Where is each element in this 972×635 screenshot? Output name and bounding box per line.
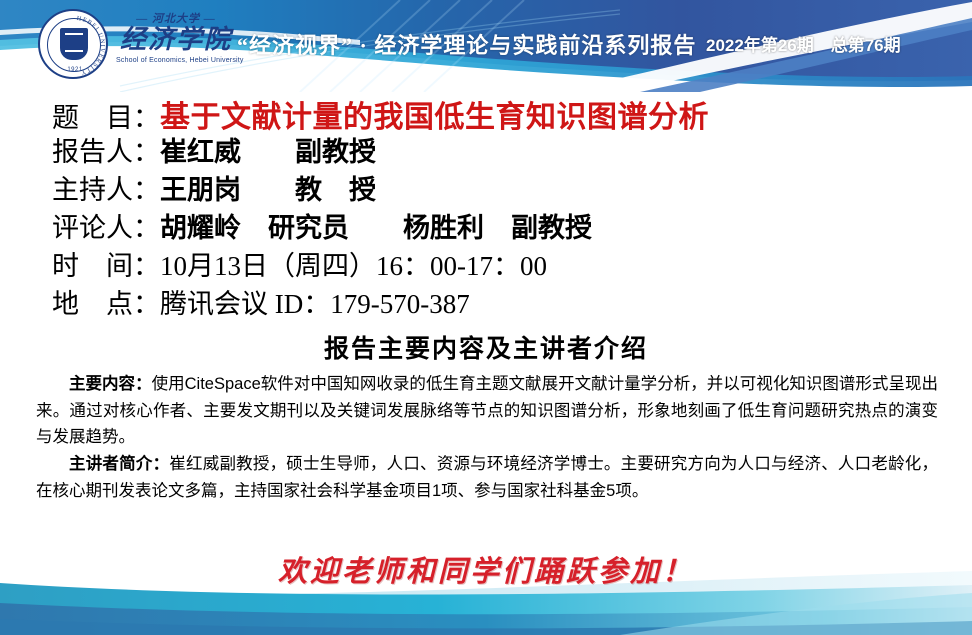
university-seal-icon: HEBEI UNIVERSITY 1921	[38, 9, 108, 79]
info-row-label: 时 间：	[52, 244, 160, 283]
paragraph-text: 崔红威副教授，硕士生导师，人口、资源与环境经济学博士。主要研究方向为人口与经济、…	[36, 455, 938, 500]
header-banner: HEBEI UNIVERSITY 1921 — 河北大学 — 经济学院 Scho…	[0, 0, 972, 92]
logo-english-name: School of Economics, Hebei University	[116, 57, 236, 64]
info-row-label: 地 点：	[52, 282, 160, 321]
info-row-label: 主持人：	[52, 168, 160, 207]
logo-wordmark: — 河北大学 — 经济学院 School of Economics, Hebei…	[116, 10, 236, 64]
info-row-label: 报告人：	[52, 130, 160, 169]
info-row: 主持人：王朋岗 教 授	[0, 168, 972, 206]
info-row-label: 评论人：	[52, 206, 160, 245]
info-row: 时 间：10月13日（周四）16：00-17：00	[0, 244, 972, 282]
section-heading: 报告主要内容及主讲者介绍	[0, 329, 972, 365]
issue-number: 2022年第26期 总第76期	[706, 31, 901, 56]
body-paragraphs: 主要内容：使用CiteSpace软件对中国知网收录的低生育主题文献展开文献计量学…	[0, 371, 972, 505]
event-info-list: 题 目：基于文献计量的我国低生育知识图谱分析报告人：崔红威 副教授主持人：王朋岗…	[0, 92, 972, 320]
info-row: 评论人：胡耀岭 研究员 杨胜利 副教授	[0, 206, 972, 244]
info-row-value: 10月13日（周四）16：00-17：00	[160, 244, 547, 283]
body-paragraph: 主要内容：使用CiteSpace软件对中国知网收录的低生育主题文献展开文献计量学…	[36, 371, 938, 451]
info-row-value: 崔红威 副教授	[160, 130, 376, 169]
info-row-value: 腾讯会议 ID：179-570-387	[160, 282, 470, 321]
welcome-message: 欢迎老师和同学们踊跃参加！	[0, 548, 972, 590]
paragraph-lead: 主要内容：	[69, 375, 152, 393]
info-row-value: 王朋岗 教 授	[160, 168, 376, 207]
info-row: 题 目：基于文献计量的我国低生育知识图谱分析	[0, 92, 972, 130]
series-title: “经济视界” · 经济学理论与实践前沿系列报告	[237, 28, 696, 60]
paragraph-text: 使用CiteSpace软件对中国知网收录的低生育主题文献展开文献计量学分析，并以…	[36, 375, 938, 446]
poster-canvas: HEBEI UNIVERSITY 1921 — 河北大学 — 经济学院 Scho…	[0, 0, 972, 635]
logo-university-name: — 河北大学 —	[116, 10, 236, 26]
logo-school-name: 经济学院	[116, 25, 236, 55]
hebei-university-logo: HEBEI UNIVERSITY 1921	[38, 9, 110, 81]
body-paragraph: 主讲者简介：崔红威副教授，硕士生导师，人口、资源与环境经济学博士。主要研究方向为…	[36, 451, 938, 504]
info-row-value: 胡耀岭 研究员 杨胜利 副教授	[160, 206, 592, 245]
seal-year: 1921	[40, 67, 110, 73]
paragraph-lead: 主讲者简介：	[69, 455, 169, 473]
info-row: 地 点：腾讯会议 ID：179-570-387	[0, 282, 972, 320]
poster-content: 题 目：基于文献计量的我国低生育知识图谱分析报告人：崔红威 副教授主持人：王朋岗…	[0, 92, 972, 547]
